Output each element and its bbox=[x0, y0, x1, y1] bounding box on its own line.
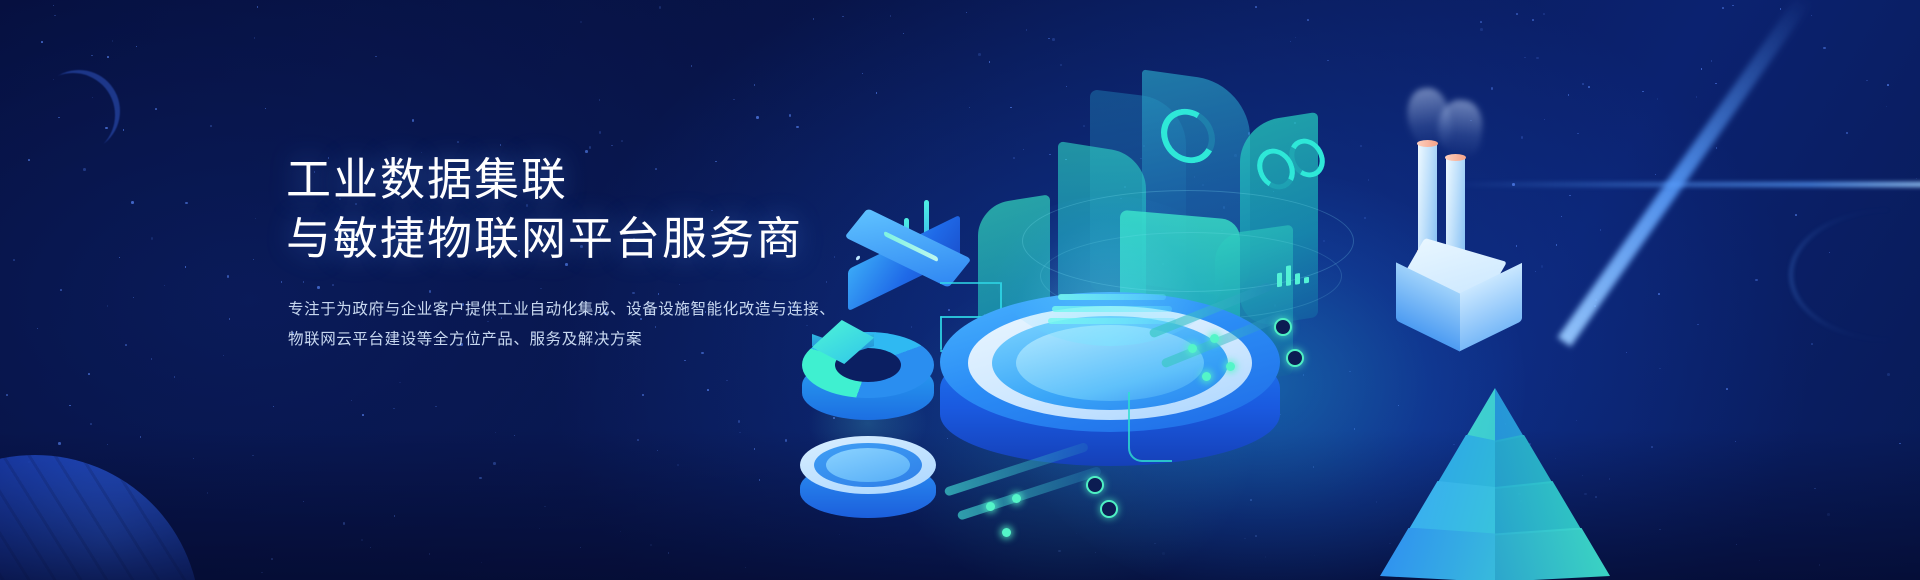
pyramid-icon bbox=[1380, 388, 1610, 578]
hero-illustration bbox=[790, 0, 1920, 580]
connection-wire bbox=[940, 282, 1000, 284]
star-dot bbox=[393, 408, 395, 410]
data-node-icon bbox=[1202, 372, 1211, 381]
star-dot bbox=[41, 41, 43, 43]
star-dot bbox=[107, 305, 109, 307]
star-dot bbox=[227, 275, 230, 278]
star-dot bbox=[273, 406, 275, 408]
star-dot bbox=[500, 144, 502, 146]
connection-wire bbox=[1128, 392, 1172, 462]
star-dot bbox=[399, 382, 401, 384]
moon-crescent-icon bbox=[38, 70, 120, 152]
star-dot bbox=[164, 285, 166, 287]
star-dot bbox=[351, 400, 353, 402]
star-dot bbox=[611, 145, 613, 147]
star-dot bbox=[435, 406, 437, 408]
star-dot bbox=[659, 6, 662, 9]
star-dot bbox=[253, 259, 255, 261]
star-dot bbox=[37, 328, 39, 330]
mini-disc-icon bbox=[800, 436, 936, 526]
router-led bbox=[856, 255, 860, 261]
data-node-icon bbox=[1100, 500, 1118, 518]
star-dot bbox=[707, 389, 709, 391]
star-dot bbox=[599, 131, 602, 134]
data-node-icon bbox=[1210, 334, 1219, 343]
data-node-icon bbox=[986, 502, 995, 511]
star-dot bbox=[185, 266, 187, 268]
star-dot bbox=[174, 376, 176, 378]
hero-banner: 工业数据集联 与敏捷物联网平台服务商 专注于为政府与企业客户提供工业自动化集成、… bbox=[0, 0, 1920, 580]
star-dot bbox=[375, 56, 377, 58]
star-dot bbox=[83, 168, 86, 171]
bar-chart-bar bbox=[1295, 273, 1300, 285]
star-dot bbox=[6, 394, 8, 396]
star-dot bbox=[412, 119, 415, 122]
star-dot bbox=[684, 360, 686, 362]
donut-chart-icon bbox=[802, 332, 934, 444]
data-node-icon bbox=[1002, 528, 1011, 537]
star-dot bbox=[738, 420, 741, 423]
star-dot bbox=[151, 237, 154, 240]
data-node-icon bbox=[1226, 362, 1235, 371]
star-dot bbox=[223, 355, 225, 357]
data-node-icon bbox=[1188, 344, 1197, 353]
star-dot bbox=[599, 99, 601, 101]
star-dot bbox=[265, 108, 267, 110]
bar-chart-bar bbox=[1277, 273, 1282, 288]
smokestack-cap bbox=[1417, 140, 1438, 147]
star-dot bbox=[229, 318, 231, 320]
data-node-icon bbox=[1274, 318, 1292, 336]
data-node-icon bbox=[1286, 349, 1304, 367]
disc-platform-icon bbox=[940, 292, 1280, 502]
star-dot bbox=[754, 84, 756, 86]
star-dot bbox=[642, 394, 645, 397]
star-dot bbox=[131, 201, 134, 204]
factory-icon bbox=[1390, 96, 1560, 316]
star-dot bbox=[691, 65, 693, 67]
star-dot bbox=[155, 108, 157, 110]
star-dot bbox=[123, 129, 125, 131]
bar-chart-bar bbox=[1286, 265, 1291, 286]
star-dot bbox=[151, 358, 153, 360]
star-dot bbox=[362, 414, 364, 416]
star-dot bbox=[112, 40, 114, 42]
pyramid-tier-right bbox=[1380, 435, 1610, 490]
star-dot bbox=[107, 56, 109, 58]
star-dot bbox=[254, 37, 256, 39]
star-dot bbox=[756, 116, 759, 119]
star-dot bbox=[54, 15, 56, 17]
star-dot bbox=[69, 405, 71, 407]
star-dot bbox=[733, 99, 735, 101]
star-dot bbox=[53, 5, 55, 7]
star-dot bbox=[119, 257, 121, 259]
star-dot bbox=[133, 297, 135, 299]
star-dot bbox=[580, 21, 583, 24]
star-dot bbox=[13, 259, 15, 261]
star-dot bbox=[88, 373, 90, 375]
star-dot bbox=[28, 159, 30, 161]
smokestack-cap bbox=[1445, 154, 1466, 161]
star-dot bbox=[185, 202, 188, 205]
star-dot bbox=[91, 55, 93, 57]
bar-chart-bar bbox=[1304, 277, 1309, 284]
data-node-icon bbox=[1012, 494, 1021, 503]
pyramid-tier-right bbox=[1380, 388, 1610, 443]
star-dot bbox=[257, 6, 259, 8]
star-dot bbox=[255, 218, 257, 220]
star-dot bbox=[457, 141, 459, 143]
disc-light-beam bbox=[994, 196, 1226, 346]
star-dot bbox=[726, 380, 728, 382]
star-dot bbox=[125, 344, 127, 346]
data-node-icon bbox=[1086, 476, 1104, 494]
star-dot bbox=[90, 423, 92, 425]
star-dot bbox=[136, 46, 138, 48]
mini-disc-ring-2 bbox=[826, 448, 910, 482]
star-dot bbox=[589, 146, 592, 149]
star-dot bbox=[281, 281, 283, 283]
star-dot bbox=[210, 125, 212, 127]
star-dot bbox=[621, 140, 623, 142]
star-dot bbox=[60, 289, 62, 291]
